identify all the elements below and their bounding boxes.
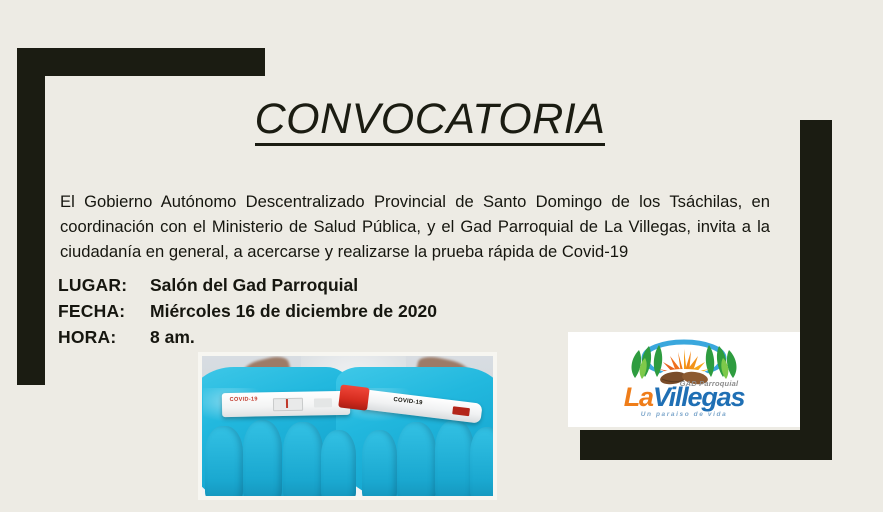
finger	[205, 426, 243, 496]
finger	[470, 427, 493, 496]
detail-row-lugar: LUGAR: Salón del Gad Parroquial	[58, 272, 578, 298]
logo-wordmark: LaVillegas GAD Parroquial Un paraiso de …	[594, 384, 774, 419]
detail-label-lugar: LUGAR:	[58, 272, 150, 298]
frame-bracket-left	[17, 48, 45, 385]
finger	[397, 422, 436, 496]
poster-canvas: CONVOCATORIA El Gobierno Autónomo Descen…	[0, 0, 883, 512]
covid-test-photo: COVID-19 COVID-19	[198, 352, 497, 500]
page-title: CONVOCATORIA	[255, 97, 606, 146]
logo-word-la: La	[624, 382, 653, 412]
cassette-sample-well	[314, 398, 332, 408]
gad-parroquial-logo: LaVillegas GAD Parroquial Un paraiso de …	[568, 332, 800, 427]
detail-value-fecha: Miércoles 16 de diciembre de 2020	[150, 298, 578, 324]
event-details: LUGAR: Salón del Gad Parroquial FECHA: M…	[58, 272, 578, 350]
cassette-result-window	[273, 398, 303, 411]
detail-label-fecha: FECHA:	[58, 298, 150, 324]
photo-content: COVID-19 COVID-19	[202, 356, 493, 496]
finger	[243, 420, 282, 496]
title-container: CONVOCATORIA	[60, 97, 800, 146]
frame-bracket-top	[17, 48, 265, 76]
finger	[321, 430, 356, 496]
logo-superscript: GAD Parroquial	[680, 380, 739, 388]
finger	[283, 422, 322, 496]
body-paragraph: El Gobierno Autónomo Descentralizado Pro…	[60, 189, 770, 264]
detail-row-hora: HORA: 8 am.	[58, 324, 578, 350]
vial-blood-mark	[452, 406, 470, 416]
frame-bracket-right	[800, 120, 832, 460]
vial-label-text: COVID-19	[393, 397, 423, 407]
detail-value-hora: 8 am.	[150, 324, 578, 350]
finger	[362, 430, 397, 496]
logo-name: LaVillegas GAD Parroquial	[624, 384, 745, 411]
frame-bracket-bottom	[580, 430, 832, 460]
detail-row-fecha: FECHA: Miércoles 16 de diciembre de 2020	[58, 298, 578, 324]
finger	[435, 420, 474, 496]
detail-label-hora: HORA:	[58, 324, 150, 350]
logo-tagline: Un paraiso de vida	[594, 412, 774, 419]
rapid-test-cassette: COVID-19	[222, 391, 350, 417]
cassette-label-text: COVID-19	[230, 397, 258, 403]
vial-red-cap	[338, 385, 369, 411]
detail-value-lugar: Salón del Gad Parroquial	[150, 272, 578, 298]
